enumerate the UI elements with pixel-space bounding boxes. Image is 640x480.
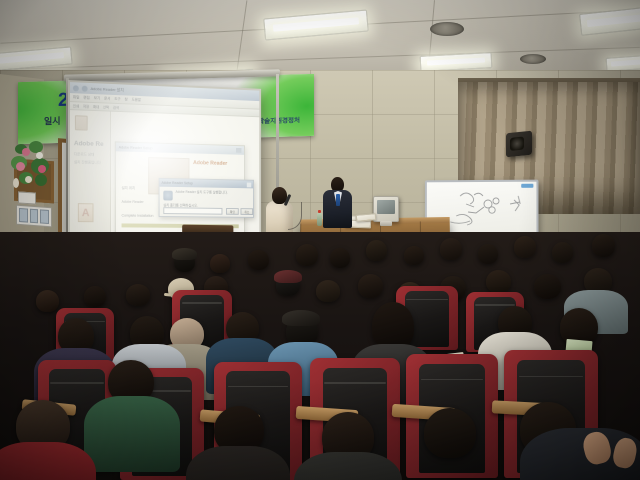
projected-content: Adobe Re 다운로드 상태 설치 진행중입니다 Adobe Reader … bbox=[70, 110, 259, 239]
sidebar-line-2: 설치 진행중입니다 bbox=[74, 160, 101, 166]
speaker-icon bbox=[506, 131, 532, 158]
modal-path-input[interactable] bbox=[163, 207, 222, 214]
menu-item-document[interactable]: 문서 bbox=[104, 96, 110, 101]
presenter-b-tie bbox=[336, 194, 340, 206]
audience-head bbox=[486, 270, 511, 293]
audience-head bbox=[358, 274, 383, 298]
adobe-logo-icon bbox=[75, 115, 88, 130]
toolbar-select[interactable]: 선택 bbox=[103, 104, 109, 109]
cap-icon bbox=[172, 248, 197, 260]
cap-icon bbox=[282, 310, 320, 326]
audience-body bbox=[186, 446, 290, 480]
modal-close-icon[interactable] bbox=[247, 182, 251, 187]
menu-item-help[interactable]: 도움말 bbox=[132, 97, 141, 102]
ceiling-vent-2 bbox=[520, 54, 546, 64]
audience-head bbox=[248, 250, 269, 270]
menu-item-file[interactable]: 파일 bbox=[73, 95, 80, 100]
audience-area bbox=[0, 232, 640, 480]
ceiling-vent-1 bbox=[430, 22, 464, 36]
crt-monitor bbox=[373, 196, 399, 222]
wall-control-panel[interactable] bbox=[16, 205, 52, 228]
audience-body bbox=[84, 396, 180, 472]
banner-subtitle: 일시 bbox=[44, 114, 61, 127]
audience-head bbox=[84, 286, 106, 307]
toolbar-zoom[interactable]: 확대 bbox=[93, 104, 99, 109]
setup-window-titlebar: Adobe Reader Setup bbox=[116, 142, 244, 154]
audience-head bbox=[296, 244, 318, 266]
menu-item-edit[interactable]: 편집 bbox=[83, 95, 89, 100]
close-icon[interactable] bbox=[236, 148, 241, 153]
projected-window-title: Adobe Reader 설치 bbox=[91, 86, 124, 93]
modal-title: Adobe Reader Setup bbox=[161, 181, 192, 185]
audience-head bbox=[36, 290, 59, 312]
modal-cancel-button[interactable]: 취소 bbox=[241, 208, 254, 215]
projection-screen: Adobe Reader 설치 파일 편집 보기 문서 도구 창 도움말 인쇄 … bbox=[68, 80, 261, 241]
info-icon bbox=[163, 191, 172, 201]
audience-head bbox=[424, 408, 476, 458]
setup-row-2: Adobe Reader bbox=[122, 200, 144, 204]
window-dot-icon bbox=[73, 85, 79, 91]
audience-head-long-hair bbox=[372, 302, 414, 350]
audience-head bbox=[366, 240, 387, 261]
audience-head bbox=[514, 236, 536, 258]
cap-icon bbox=[274, 270, 302, 283]
banner-organization: 학술지원경정처 bbox=[258, 114, 300, 125]
toolbar-search[interactable]: 검색 bbox=[113, 105, 119, 110]
toolbar-print[interactable]: 인쇄 bbox=[73, 103, 79, 108]
setup-window-title: Adobe Reader Setup bbox=[119, 145, 153, 150]
menu-item-view[interactable]: 보기 bbox=[94, 96, 100, 101]
menu-item-tools[interactable]: 도구 bbox=[114, 96, 120, 101]
window-dot-icon bbox=[82, 85, 88, 91]
pdf-file-icon bbox=[78, 203, 94, 222]
audience-head bbox=[330, 248, 350, 268]
sidebar-line-1: 다운로드 상태 bbox=[74, 152, 94, 158]
projected-modal-dialog: Adobe Reader Setup Adobe Reader 설치 도구를 실… bbox=[159, 178, 254, 218]
setup-row-1: 설치 위치 bbox=[122, 186, 136, 191]
projected-application: Adobe Reader 설치 파일 편집 보기 문서 도구 창 도움말 인쇄 … bbox=[70, 82, 259, 239]
audience-head bbox=[210, 254, 230, 273]
menu-item-window[interactable]: 창 bbox=[125, 97, 128, 102]
audience-head bbox=[478, 244, 498, 264]
modal-titlebar: Adobe Reader Setup bbox=[160, 179, 254, 189]
audience-head bbox=[316, 280, 340, 302]
toolbar-save[interactable]: 저장 bbox=[83, 104, 89, 109]
audience-head bbox=[126, 284, 150, 306]
audience-head bbox=[592, 234, 615, 257]
wall-control-small[interactable] bbox=[18, 191, 36, 204]
setup-heading: Adobe Reader bbox=[193, 160, 227, 167]
water-bottle bbox=[317, 213, 322, 226]
projected-brand: Adobe Re bbox=[74, 140, 104, 148]
projected-sidebar: Adobe Re 다운로드 상태 설치 진행중입니다 bbox=[70, 110, 111, 238]
auditorium-photo: 2 술대회 일시 학술지원경정처 Adobe Reader 설치 bbox=[0, 0, 640, 480]
monitor-stand bbox=[380, 221, 392, 226]
modal-ok-button[interactable]: 확인 bbox=[226, 208, 239, 215]
audience-head bbox=[440, 238, 462, 260]
modal-message: Adobe Reader 설치 도구를 실행합니다. bbox=[175, 190, 249, 196]
setup-row-3: Complete Installation bbox=[122, 214, 154, 218]
audience-head bbox=[552, 242, 573, 263]
audience-head bbox=[534, 274, 561, 299]
audience-head bbox=[404, 246, 424, 265]
flower-arrangement bbox=[5, 138, 63, 196]
